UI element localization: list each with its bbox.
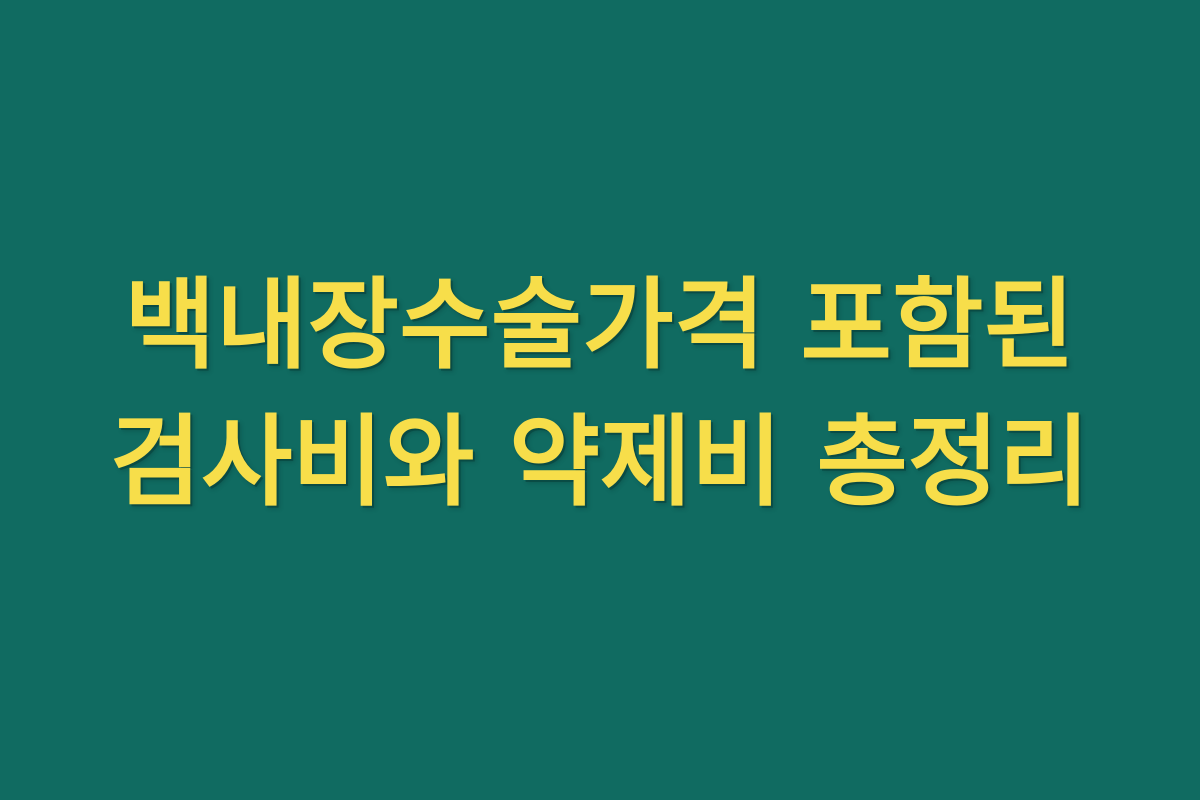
headline-line-1: 백내장수술가격 포함된 [0, 257, 1200, 394]
headline-block: 백내장수술가격 포함된 검사비와 약제비 총정리 [0, 0, 1200, 800]
headline-line-2: 검사비와 약제비 총정리 [0, 394, 1200, 531]
thumbnail-banner: 백내장수술가격 포함된 검사비와 약제비 총정리 [0, 0, 1200, 800]
